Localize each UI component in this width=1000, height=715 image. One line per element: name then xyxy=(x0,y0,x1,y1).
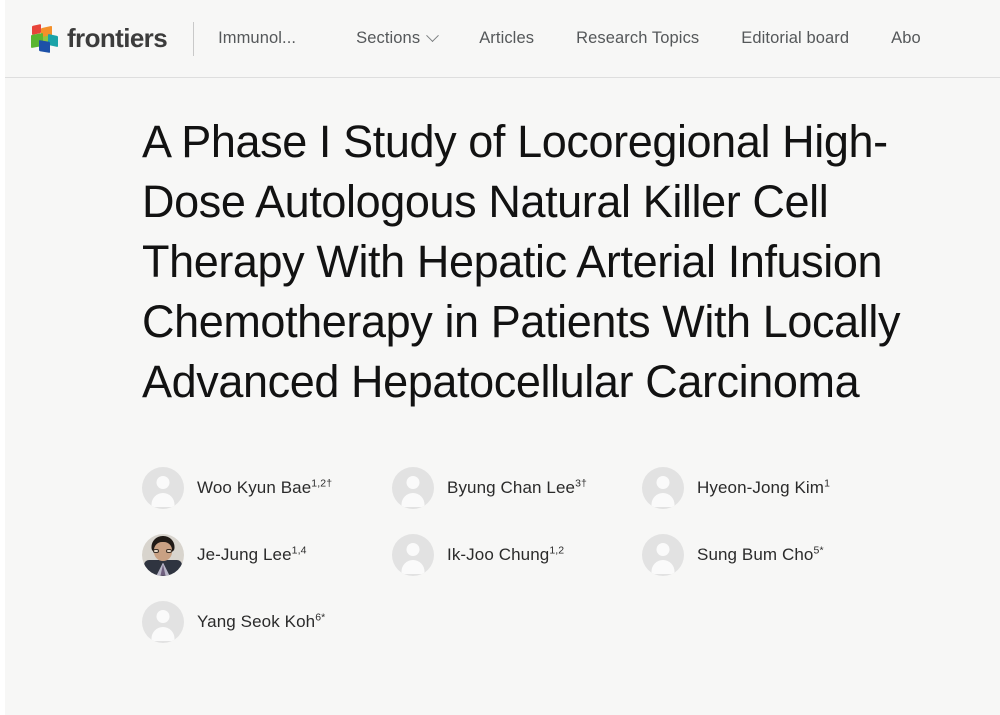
author-affiliation-marker: 6* xyxy=(315,611,325,623)
placeholder-avatar-icon xyxy=(642,534,684,576)
nav-item-about[interactable]: Abo xyxy=(891,29,921,48)
author-affiliation-marker: 1 xyxy=(824,477,830,489)
author-affiliation-marker: 1,2 xyxy=(549,544,564,556)
nav-item-sections-label: Sections xyxy=(356,29,420,48)
author-photo-avatar xyxy=(142,534,184,576)
author-name: Woo Kyun Bae1,2† xyxy=(197,478,332,498)
author-item[interactable]: Sung Bum Cho5* xyxy=(642,521,892,588)
nav-item-editorial-board[interactable]: Editorial board xyxy=(741,29,849,48)
placeholder-avatar-icon xyxy=(392,467,434,509)
chevron-down-icon xyxy=(426,29,439,42)
author-affiliation-marker: 1,2† xyxy=(311,477,332,489)
author-item[interactable]: Je-Jung Lee1,4 xyxy=(142,521,392,588)
nav-item-editorial-board-label: Editorial board xyxy=(741,29,849,48)
brand-wordmark: frontiers xyxy=(67,23,167,54)
nav-item-articles-label: Articles xyxy=(479,29,534,48)
page-title: A Phase I Study of Locoregional High-Dos… xyxy=(142,112,902,412)
placeholder-avatar-icon xyxy=(142,467,184,509)
frontiers-cubes-logo-icon xyxy=(28,24,58,54)
site-header: frontiers Immunol... Sections Articles R… xyxy=(0,0,1000,78)
nav-item-sections[interactable]: Sections xyxy=(356,29,437,48)
author-affiliation-marker: 1,4 xyxy=(292,544,307,556)
author-name: Sung Bum Cho5* xyxy=(697,545,824,565)
placeholder-avatar-icon xyxy=(642,467,684,509)
nav-item-research-topics[interactable]: Research Topics xyxy=(576,29,699,48)
author-name: Ik-Joo Chung1,2 xyxy=(447,545,564,565)
author-name: Byung Chan Lee3† xyxy=(447,478,587,498)
frontiers-brand-logo[interactable]: frontiers xyxy=(28,23,167,54)
placeholder-avatar-icon xyxy=(142,601,184,643)
page-left-edge xyxy=(0,0,5,715)
placeholder-avatar-icon xyxy=(392,534,434,576)
nav-item-journal-label: Immunol... xyxy=(218,29,296,48)
nav-item-journal[interactable]: Immunol... xyxy=(218,29,296,48)
author-item[interactable]: Hyeon-Jong Kim1 xyxy=(642,454,892,521)
nav-item-about-label: Abo xyxy=(891,29,921,48)
header-divider xyxy=(193,22,194,56)
author-name: Hyeon-Jong Kim1 xyxy=(697,478,830,498)
author-item[interactable]: Yang Seok Koh6* xyxy=(142,588,392,655)
author-list: Woo Kyun Bae1,2† Byung Chan Lee3† Hyeon-… xyxy=(142,454,892,655)
article-main: A Phase I Study of Locoregional High-Dos… xyxy=(0,78,1000,655)
author-affiliation-marker: 3† xyxy=(575,477,587,489)
main-navigation: Immunol... Sections Articles Research To… xyxy=(218,29,1000,48)
author-item[interactable]: Ik-Joo Chung1,2 xyxy=(392,521,642,588)
author-item[interactable]: Woo Kyun Bae1,2† xyxy=(142,454,392,521)
author-name: Je-Jung Lee1,4 xyxy=(197,545,307,565)
author-name: Yang Seok Koh6* xyxy=(197,612,325,632)
nav-item-research-topics-label: Research Topics xyxy=(576,29,699,48)
nav-item-articles[interactable]: Articles xyxy=(479,29,534,48)
author-item[interactable]: Byung Chan Lee3† xyxy=(392,454,642,521)
author-affiliation-marker: 5* xyxy=(814,544,824,556)
